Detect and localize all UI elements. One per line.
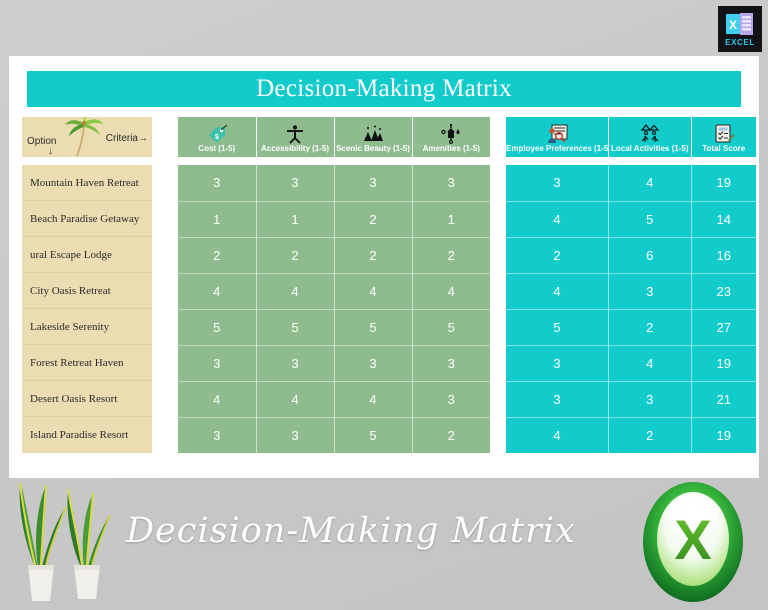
table-row: 4 5 14 [506, 201, 756, 237]
potted-plants-decoration [4, 469, 116, 609]
list-item[interactable]: Island Paradise Resort [22, 417, 152, 453]
score-cell[interactable]: 5 [178, 309, 256, 345]
score-cell[interactable]: 3 [412, 345, 490, 381]
teal-grid: Employee Preferences (1-5) Local Activit… [506, 117, 756, 453]
table-row: 3 3 5 2 [178, 417, 490, 453]
footer-band: Decision-Making Matrix X [0, 477, 768, 610]
svg-text:X: X [729, 18, 737, 32]
score-cell[interactable]: 4 [412, 273, 490, 309]
total-score-cell[interactable]: 27 [691, 309, 756, 345]
score-cell[interactable]: 4 [609, 345, 692, 381]
score-cell[interactable]: 1 [178, 201, 256, 237]
score-cell[interactable]: 3 [506, 381, 609, 417]
table-row: 3 4 19 [506, 345, 756, 381]
score-cell[interactable]: 3 [256, 345, 334, 381]
footer-title: Decision-Making Matrix [126, 511, 576, 551]
column-header-employee-preferences[interactable]: Employee Preferences (1-5) [506, 117, 609, 157]
score-cell[interactable]: 6 [609, 237, 692, 273]
score-cell[interactable]: 3 [506, 345, 609, 381]
matrix-title-banner: Decision-Making Matrix [27, 71, 741, 107]
table-row: 1 1 2 1 [178, 201, 490, 237]
table-row: 3 4 19 [506, 165, 756, 201]
score-cell[interactable]: 4 [506, 273, 609, 309]
table-row: 5 5 5 5 [178, 309, 490, 345]
table-row: 3 3 21 [506, 381, 756, 417]
score-cell[interactable]: 3 [412, 165, 490, 201]
list-item[interactable]: Beach Paradise Getaway [22, 201, 152, 237]
svg-text:$: $ [215, 134, 219, 141]
score-cell[interactable]: 2 [412, 237, 490, 273]
score-cell[interactable]: 3 [334, 165, 412, 201]
total-score-cell[interactable]: 19 [691, 345, 756, 381]
green-grid: $ Cost (1-5) Accessibility (1-5) [178, 117, 490, 453]
excel-icon: X [725, 12, 755, 36]
score-cell[interactable]: 2 [609, 309, 692, 345]
score-cell[interactable]: 3 [609, 273, 692, 309]
score-cell[interactable]: 3 [256, 417, 334, 453]
option-column: Option ↓ Criteria→ Mountain Haven Retrea… [22, 117, 152, 453]
score-cell[interactable]: 2 [334, 237, 412, 273]
score-cell[interactable]: 5 [506, 309, 609, 345]
column-header-local-activities[interactable]: Local Activities (1-5) [609, 117, 692, 157]
score-cell[interactable]: 2 [412, 417, 490, 453]
score-cell[interactable]: 4 [609, 165, 692, 201]
table-row: 3 3 3 3 [178, 165, 490, 201]
column-header-employee-preferences-label: Employee Preferences (1-5) [506, 144, 608, 157]
total-score-cell[interactable]: 14 [691, 201, 756, 237]
list-item[interactable]: Desert Oasis Resort [22, 381, 152, 417]
table-spacer-row [506, 157, 756, 165]
amenities-icon [440, 124, 462, 144]
column-header-cost[interactable]: $ Cost (1-5) [178, 117, 256, 157]
option-criteria-corner-cell: Option ↓ Criteria→ [22, 117, 152, 157]
table-row: 5 2 27 [506, 309, 756, 345]
excel-badge-label: EXCEL [725, 38, 755, 47]
score-cell[interactable]: 4 [506, 417, 609, 453]
criteria-scores-table-green: $ Cost (1-5) Accessibility (1-5) [178, 117, 490, 453]
excel-x-logo[interactable]: X [630, 479, 756, 605]
option-axis-arrow-icon: ↓ [48, 147, 53, 157]
palm-tree-icon [60, 117, 106, 157]
price-tag-icon: $ [206, 124, 228, 144]
table-row: 3 3 3 3 [178, 345, 490, 381]
local-activities-icon [639, 124, 661, 144]
list-item[interactable]: City Oasis Retreat [22, 273, 152, 309]
table-row: 4 2 19 [506, 417, 756, 453]
score-cell[interactable]: 5 [412, 309, 490, 345]
x-logo-letter: X [674, 508, 711, 571]
score-cell[interactable]: 3 [412, 381, 490, 417]
score-cell[interactable]: 1 [256, 201, 334, 237]
score-cell[interactable]: 3 [256, 165, 334, 201]
table-row: 4 3 23 [506, 273, 756, 309]
column-header-total-score-label: Total Score [692, 144, 757, 157]
score-cell[interactable]: 4 [334, 273, 412, 309]
score-cell[interactable]: 3 [609, 381, 692, 417]
score-cell[interactable]: 4 [178, 273, 256, 309]
list-item[interactable]: Lakeside Serenity [22, 309, 152, 345]
list-item[interactable]: Mountain Haven Retreat [22, 165, 152, 201]
total-score-cell[interactable]: 23 [691, 273, 756, 309]
score-cell[interactable]: 2 [506, 237, 609, 273]
column-header-total-score[interactable]: Total Score [691, 117, 756, 157]
table-spacer-row [178, 157, 490, 165]
score-cell[interactable]: 5 [256, 309, 334, 345]
total-score-cell[interactable]: 19 [691, 417, 756, 453]
table-row: 2 2 2 2 [178, 237, 490, 273]
excel-app-badge[interactable]: X EXCEL [718, 6, 762, 52]
page-title: Decision-Making Matrix [256, 75, 512, 103]
score-cell[interactable]: 3 [178, 417, 256, 453]
score-cell[interactable]: 5 [334, 309, 412, 345]
score-cell[interactable]: 4 [256, 273, 334, 309]
table-row: 4 4 4 4 [178, 273, 490, 309]
criteria-axis-label: Criteria→ [106, 133, 148, 144]
score-cell[interactable]: 2 [178, 237, 256, 273]
total-score-cell[interactable]: 16 [691, 237, 756, 273]
checklist-clipboard-icon [713, 124, 735, 144]
score-cell[interactable]: 2 [334, 201, 412, 237]
score-cell[interactable]: 2 [609, 417, 692, 453]
score-cell[interactable]: 4 [334, 381, 412, 417]
total-score-cell[interactable]: 19 [691, 165, 756, 201]
score-cell[interactable]: 4 [506, 201, 609, 237]
criteria-scores-table-teal: Employee Preferences (1-5) Local Activit… [506, 117, 756, 453]
table-row: 2 6 16 [506, 237, 756, 273]
score-cell[interactable]: 4 [178, 381, 256, 417]
score-cell[interactable]: 5 [334, 417, 412, 453]
column-header-accessibility-label: Accessibility (1-5) [257, 144, 334, 157]
column-header-accessibility[interactable]: Accessibility (1-5) [256, 117, 334, 157]
score-cell[interactable]: 4 [256, 381, 334, 417]
column-header-scenic-beauty-label: Scenic Beauty (1-5) [335, 144, 412, 157]
table-row: 4 4 4 3 [178, 381, 490, 417]
column-header-cost-label: Cost (1-5) [178, 144, 256, 157]
score-cell[interactable]: 3 [178, 165, 256, 201]
matrix-card: Decision-Making Matrix Option ↓ Criteria… [10, 57, 758, 477]
column-header-amenities[interactable]: Amenities (1-5) [412, 117, 490, 157]
score-cell[interactable]: 1 [412, 201, 490, 237]
table-header-row: $ Cost (1-5) Accessibility (1-5) [178, 117, 490, 157]
option-labels-list: Mountain Haven Retreat Beach Paradise Ge… [22, 165, 152, 453]
score-cell[interactable]: 3 [178, 345, 256, 381]
list-item[interactable]: ural Escape Lodge [22, 237, 152, 273]
mountain-village-icon [362, 124, 384, 144]
employee-survey-icon [546, 124, 568, 144]
total-score-cell[interactable]: 21 [691, 381, 756, 417]
score-cell[interactable]: 2 [256, 237, 334, 273]
list-item[interactable]: Forest Retreat Haven [22, 345, 152, 381]
score-cell[interactable]: 3 [334, 345, 412, 381]
column-header-local-activities-label: Local Activities (1-5) [609, 144, 691, 157]
score-cell[interactable]: 5 [609, 201, 692, 237]
accessibility-person-icon [284, 124, 306, 144]
column-header-amenities-label: Amenities (1-5) [413, 144, 491, 157]
table-header-row: Employee Preferences (1-5) Local Activit… [506, 117, 756, 157]
column-header-scenic-beauty[interactable]: Scenic Beauty (1-5) [334, 117, 412, 157]
score-cell[interactable]: 3 [506, 165, 609, 201]
